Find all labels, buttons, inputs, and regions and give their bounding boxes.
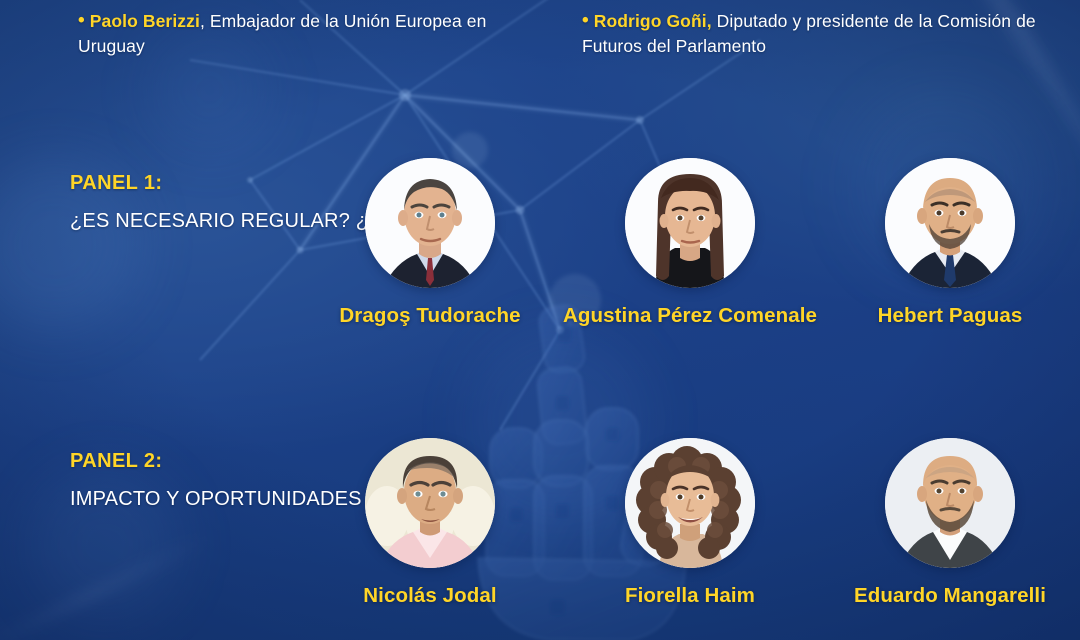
person-name: Fiorella Haim	[625, 584, 755, 608]
portrait-man-bald-beard-tie-icon	[885, 158, 1015, 288]
bullet-icon: •	[78, 10, 85, 31]
speaker-line: • Rodrigo Goñi, Diputado y presidente de…	[582, 8, 1080, 59]
portrait-woman-curly-hair-smiling-icon	[625, 438, 755, 568]
panel-2-people-row: Nicolás Jodal	[300, 438, 1080, 608]
person-name: Eduardo Mangarelli	[854, 584, 1046, 608]
avatar	[365, 438, 495, 568]
panel-2-person-2: Fiorella Haim	[560, 438, 820, 608]
avatar	[885, 158, 1015, 288]
person-name: Nicolás Jodal	[363, 584, 496, 608]
person-name: Hebert Paguas	[878, 304, 1023, 328]
portrait-man-dark-hair-suit-icon	[365, 158, 495, 288]
panel-1-person-3: Hebert Paguas	[820, 158, 1080, 328]
panel-2-person-1: Nicolás Jodal	[300, 438, 560, 608]
header-speaker-item: • Paolo Berizzi, Embajador de la Unión E…	[0, 0, 532, 72]
panel-2-person-3: Eduardo Mangarelli	[820, 438, 1080, 608]
avatar	[625, 438, 755, 568]
person-name: Dragoş Tudorache	[339, 304, 520, 328]
speaker-line: • Paolo Berizzi, Embajador de la Unión E…	[78, 8, 508, 59]
bullet-icon: •	[582, 10, 589, 31]
speaker-name: Rodrigo Goñi,	[594, 11, 712, 31]
avatar	[885, 438, 1015, 568]
portrait-man-grey-hair-pink-shirt-icon	[365, 438, 495, 568]
avatar	[625, 158, 755, 288]
panel-1-people-row: Dragoş Tudorache	[300, 158, 1080, 328]
portrait-woman-long-brown-hair-icon	[625, 158, 755, 288]
person-name: Agustina Pérez Comenale	[563, 304, 817, 328]
portrait-man-bald-beard-white-shirt-icon	[885, 438, 1015, 568]
panel-1-person-1: Dragoş Tudorache	[300, 158, 560, 328]
avatar	[365, 158, 495, 288]
header-speaker-item: • Rodrigo Goñi, Diputado y presidente de…	[532, 0, 1080, 72]
speaker-name: Paolo Berizzi	[90, 11, 200, 31]
header-speaker-list: • Paolo Berizzi, Embajador de la Unión E…	[0, 0, 1080, 72]
panel-1-person-2: Agustina Pérez Comenale	[560, 158, 820, 328]
